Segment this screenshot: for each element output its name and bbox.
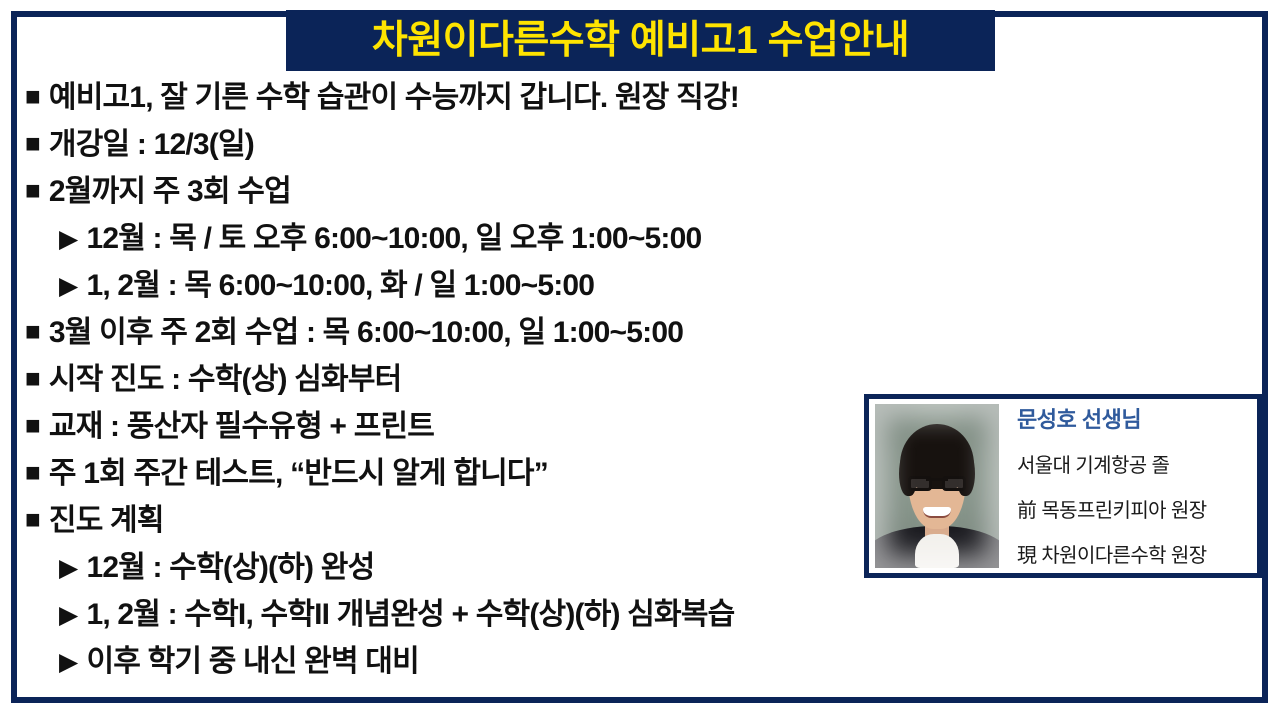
content-list: ■예비고1, 잘 기른 수학 습관이 수능까지 갑니다. 원장 직강!■개강일 …	[25, 72, 1025, 683]
triangle-bullet-icon: ▶	[59, 553, 77, 583]
content-line-text: 1, 2월 : 목 6:00~10:00, 화 / 일 1:00~5:00	[86, 260, 594, 304]
content-bullet-row: ■2월까지 주 3회 수업	[25, 166, 1025, 213]
content-line-text: 예비고1, 잘 기른 수학 습관이 수능까지 갑니다. 원장 직강!	[49, 72, 739, 116]
triangle-bullet-icon: ▶	[59, 271, 77, 301]
teacher-credential-1: 서울대 기계항공 졸	[1017, 455, 1257, 477]
flyer-page: 차원이다른수학 예비고1 수업안내 ■예비고1, 잘 기른 수학 습관이 수능까…	[0, 0, 1280, 720]
content-line-text: 12월 : 목 / 토 오후 6:00~10:00, 일 오후 1:00~5:0…	[86, 213, 701, 257]
teacher-profile-card: 문성호 선생님 서울대 기계항공 졸 前 목동프린키피아 원장 現 차원이다른수…	[864, 394, 1262, 578]
square-bullet-icon: ■	[25, 363, 40, 394]
square-bullet-icon: ■	[25, 410, 40, 441]
portrait-vignette	[875, 404, 999, 568]
content-line-text: 2월까지 주 3회 수업	[49, 166, 291, 210]
content-bullet-row: ■예비고1, 잘 기른 수학 습관이 수능까지 갑니다. 원장 직강!	[25, 72, 1025, 119]
triangle-bullet-icon: ▶	[59, 600, 77, 630]
content-subbullet-row: ▶12월 : 목 / 토 오후 6:00~10:00, 일 오후 1:00~5:…	[25, 213, 1025, 260]
square-bullet-icon: ■	[25, 175, 40, 206]
content-line-text: 시작 진도 : 수학(상) 심화부터	[49, 354, 402, 398]
teacher-credential-2: 前 목동프린키피아 원장	[1017, 500, 1257, 522]
triangle-bullet-icon: ▶	[59, 224, 77, 254]
content-line-text: 1, 2월 : 수학I, 수학II 개념완성 + 수학(상)(하) 심화복습	[86, 589, 734, 633]
teacher-credential-3: 現 차원이다른수학 원장	[1017, 545, 1257, 567]
content-line-text: 이후 학기 중 내신 완벽 대비	[86, 636, 418, 680]
teacher-name: 문성호 선생님	[1017, 408, 1257, 432]
content-line-text: 12월 : 수학(상)(하) 완성	[86, 542, 374, 586]
square-bullet-icon: ■	[25, 128, 40, 159]
square-bullet-icon: ■	[25, 81, 40, 112]
page-title: 차원이다른수학 예비고1 수업안내	[372, 21, 909, 60]
content-line-text: 진도 계획	[49, 495, 164, 539]
triangle-bullet-icon: ▶	[59, 647, 77, 677]
square-bullet-icon: ■	[25, 316, 40, 347]
content-bullet-row: ■3월 이후 주 2회 수업 : 목 6:00~10:00, 일 1:00~5:…	[25, 307, 1025, 354]
square-bullet-icon: ■	[25, 457, 40, 488]
content-subbullet-row: ▶1, 2월 : 수학I, 수학II 개념완성 + 수학(상)(하) 심화복습	[25, 589, 1025, 636]
teacher-photo	[875, 404, 999, 568]
content-line-text: 3월 이후 주 2회 수업 : 목 6:00~10:00, 일 1:00~5:0…	[49, 307, 683, 351]
content-line-text: 교재 : 풍산자 필수유형 + 프린트	[49, 401, 434, 445]
content-bullet-row: ■개강일 : 12/3(일)	[25, 119, 1025, 166]
title-banner: 차원이다른수학 예비고1 수업안내	[286, 10, 995, 71]
content-line-text: 주 1회 주간 테스트, “반드시 알게 합니다”	[49, 448, 548, 492]
square-bullet-icon: ■	[25, 504, 40, 535]
content-subbullet-row: ▶이후 학기 중 내신 완벽 대비	[25, 636, 1025, 683]
content-line-text: 개강일 : 12/3(일)	[49, 119, 254, 163]
content-subbullet-row: ▶1, 2월 : 목 6:00~10:00, 화 / 일 1:00~5:00	[25, 260, 1025, 307]
teacher-info: 문성호 선생님 서울대 기계항공 졸 前 목동프린키피아 원장 現 차원이다른수…	[999, 399, 1257, 573]
